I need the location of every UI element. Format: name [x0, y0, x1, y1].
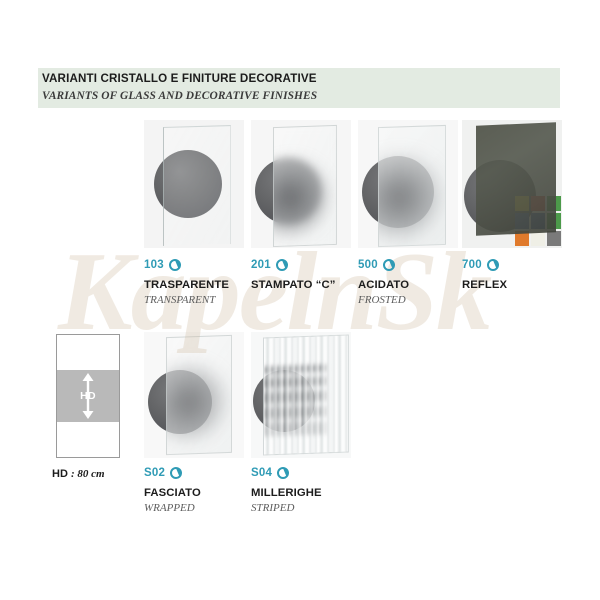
sample-image-500[interactable]: [358, 120, 458, 248]
sample-name-it: STAMPATO “C”: [251, 279, 335, 292]
sample-code: 700: [462, 258, 482, 272]
hd-caption-value: : 80 cm: [71, 468, 105, 480]
sample-name-it: MILLERIGHE: [251, 487, 322, 500]
sample-code: 103: [144, 258, 164, 272]
sample-name-en: STRIPED: [251, 502, 322, 515]
sample-image-103[interactable]: [144, 120, 244, 248]
glass-photo-transparent: [144, 120, 244, 248]
glass-photo-millerighe: [251, 332, 351, 458]
hd-caption-key: HD: [52, 468, 68, 480]
sample-label-s02: S02 FASCIATO WRAPPED: [144, 466, 201, 515]
sample-name-it: REFLEX: [462, 279, 507, 292]
glass-photo-acidato: [358, 120, 458, 248]
glass-swatch-icon: [383, 259, 395, 271]
sample-code: S02: [144, 466, 165, 480]
sample-name-en: TRANSPARENT: [144, 294, 229, 307]
sample-label-s04: S04 MILLERIGHE STRIPED: [251, 466, 322, 515]
checker-cell: [547, 231, 561, 246]
sample-image-700[interactable]: [462, 120, 562, 248]
page-title: VARIANTI CRISTALLO E FINITURE DECORATIVE: [42, 72, 317, 85]
sample-label-103: 103 TRASPARENTE TRANSPARENT: [144, 258, 229, 307]
sample-code: S04: [251, 466, 272, 480]
sample-name-it: FASCIATO: [144, 487, 201, 500]
page-subtitle: VARIANTS OF GLASS AND DECORATIVE FINISHE…: [42, 90, 317, 102]
sample-name-en: WRAPPED: [144, 502, 201, 515]
sample-name-it: TRASPARENTE: [144, 279, 229, 292]
hd-double-arrow-icon: [82, 373, 95, 419]
glass-photo-fasciato: [144, 332, 244, 458]
glass-swatch-icon: [169, 259, 181, 271]
sample-image-s04[interactable]: [251, 332, 351, 458]
sample-label-201: 201 STAMPATO “C”: [251, 258, 335, 294]
glass-swatch-icon: [277, 467, 289, 479]
glass-swatch-icon: [487, 259, 499, 271]
sample-label-700: 700 REFLEX: [462, 258, 507, 294]
glass-swatch-icon: [276, 259, 288, 271]
sample-label-500: 500 ACIDATO FROSTED: [358, 258, 409, 307]
sample-code: 201: [251, 258, 271, 272]
sample-image-201[interactable]: [251, 120, 351, 248]
hd-diagram: HD: [56, 334, 120, 458]
sample-code: 500: [358, 258, 378, 272]
sample-name-en: FROSTED: [358, 294, 409, 307]
glass-photo-reflex: [462, 120, 562, 248]
glass-swatch-icon: [170, 467, 182, 479]
sample-name-it: ACIDATO: [358, 279, 409, 292]
glass-photo-stampato-c: [251, 120, 351, 248]
sample-image-s02[interactable]: [144, 332, 244, 458]
hd-caption: HD : 80 cm: [52, 468, 105, 480]
